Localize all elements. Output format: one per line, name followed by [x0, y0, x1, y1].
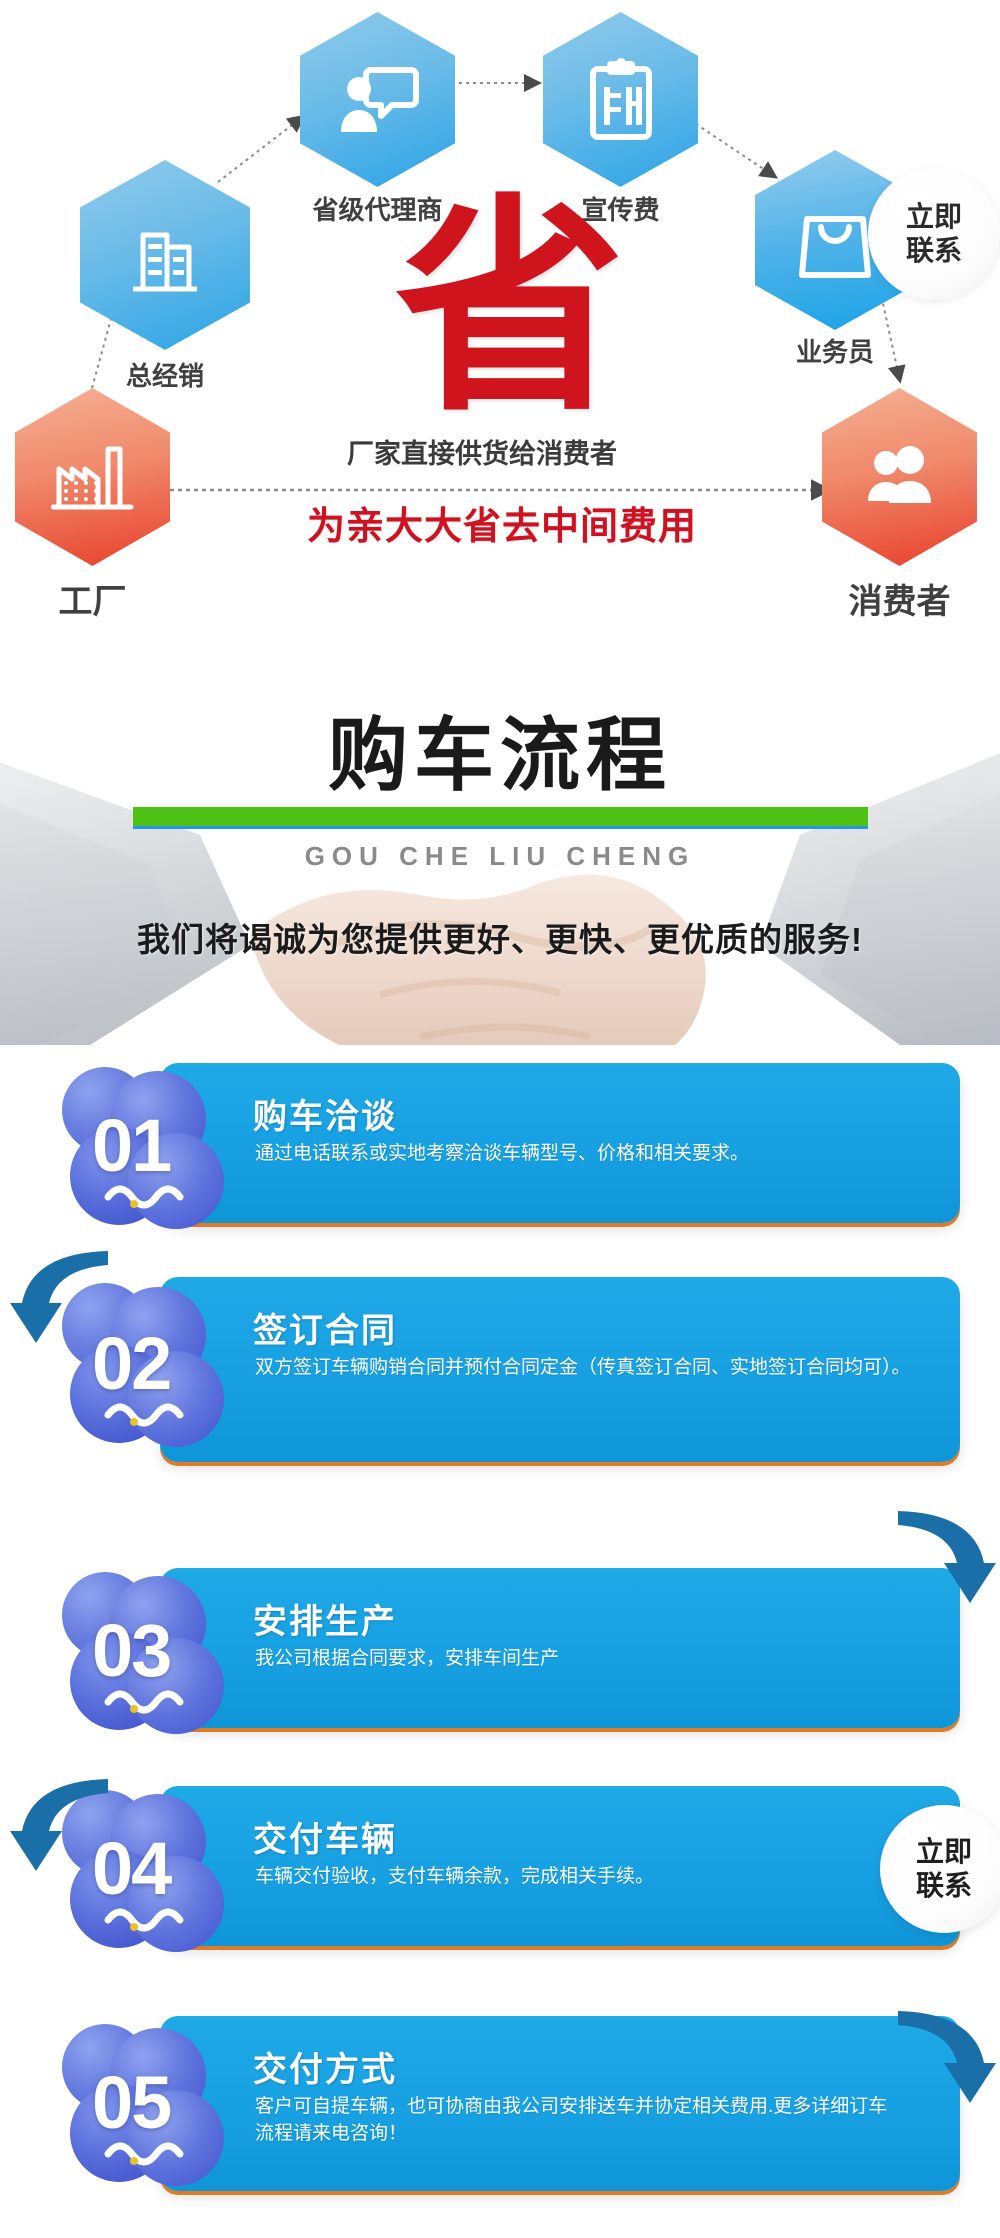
contact-now-badge-top[interactable]: 立即 联系: [868, 168, 1000, 300]
shopping-bag-icon: [797, 199, 873, 281]
node-promotion-fee[interactable]: [543, 12, 698, 187]
process-step-01[interactable]: 01 购车洽谈 通过电话联系或实地考察洽谈车辆型号、价格和相关要求。: [0, 1045, 1000, 1255]
process-step-05[interactable]: 05 交付方式 客户可自提车辆，也可协商由我公司安排送车并协定相关费用.更多详细…: [0, 1998, 1000, 2208]
node-consumer[interactable]: [822, 388, 977, 566]
red-slogan: 为亲大大省去中间费用: [307, 495, 697, 550]
process-step-02[interactable]: 02 签订合同 双方签订车辆购销合同并预付合同定金（传真签订合同、实地签订合同均…: [0, 1255, 1000, 1520]
process-step-03[interactable]: 03 安排生产 我公司根据合同要求，安排车间生产: [0, 1520, 1000, 1768]
squiggle-icon: [104, 2136, 200, 2166]
step-title: 安排生产: [253, 1594, 397, 1643]
step-number-badge: 03: [62, 1572, 252, 1732]
flow-arrow-left-2: [0, 1763, 120, 1913]
contact-now-badge-bottom[interactable]: 立即 联系: [880, 1805, 1000, 1933]
agent-chat-icon: [337, 62, 419, 138]
node-distributor[interactable]: [80, 160, 250, 350]
flow-arrow-left-1: [0, 1235, 120, 1385]
process-banner-slogan: 我们将谒诚为您提供更好、更快、更优质的服务!: [0, 913, 1000, 961]
channel-diagram-section: 总经销 省级代理商: [0, 0, 1000, 645]
node-salesman-label: 业务员: [745, 332, 925, 369]
hexagon-shape: [543, 12, 698, 187]
flow-arrow-right-2: [888, 1995, 1000, 2145]
factory-icon: [51, 441, 135, 513]
flow-arrow-right-1: [888, 1495, 1000, 1645]
clipboard-approval-icon: [585, 57, 657, 143]
big-save-character: 省: [395, 195, 625, 425]
step-number-badge: 01: [62, 1067, 252, 1227]
contact-badge-line1: 立即: [906, 200, 962, 234]
people-icon: [858, 441, 942, 513]
process-step-04[interactable]: 04 交付车辆 车辆交付验收，支付车辆余款，完成相关手续。: [0, 1768, 1000, 1998]
step-number-text: 01: [92, 1103, 170, 1188]
title-underline: [133, 807, 868, 829]
step-desc: 通过电话联系或实地考察洽谈车辆型号、价格和相关要求。: [255, 1141, 935, 1168]
node-consumer-label: 消费者: [812, 574, 987, 623]
marketing-infographic-page: 总经销 省级代理商: [0, 0, 1000, 2238]
hexagon-shape: [300, 12, 455, 187]
hexagon-shape: [15, 388, 170, 566]
process-banner-title: 购车流程: [0, 691, 1000, 807]
hexagon-shape: [80, 160, 250, 350]
step-number-badge: 05: [62, 2024, 252, 2184]
step-desc: 我公司根据合同要求，安排车间生产: [255, 1646, 935, 1673]
contact-badge-line1: 立即: [916, 1835, 972, 1869]
step-desc: 客户可自提车辆，也可协商由我公司安排送车并协定相关费用.更多详细订车流程请来电咨…: [255, 2094, 895, 2148]
step-title: 交付车辆: [253, 1812, 397, 1861]
step-number-text: 03: [92, 1608, 170, 1693]
squiggle-icon: [104, 1179, 200, 1209]
step-desc: 双方签订车辆购销合同并预付合同定金（传真签订合同、实地签订合同均可）。: [255, 1355, 920, 1382]
step-title: 购车洽谈: [253, 1089, 397, 1138]
hexagon-shape: [822, 388, 977, 566]
node-factory-label: 工厂: [10, 574, 175, 623]
node-factory[interactable]: [15, 388, 170, 566]
step-desc: 车辆交付验收，支付车辆余款，完成相关手续。: [255, 1864, 935, 1891]
building-icon: [125, 213, 205, 297]
step-title: 签订合同: [253, 1303, 397, 1352]
contact-badge-line2: 联系: [916, 1869, 972, 1903]
node-province-agent[interactable]: [300, 12, 455, 187]
process-steps-list: 01 购车洽谈 通过电话联系或实地考察洽谈车辆型号、价格和相关要求。: [0, 1045, 1000, 2208]
squiggle-icon: [104, 1397, 200, 1427]
contact-badge-line2: 联系: [906, 234, 962, 268]
squiggle-icon: [104, 1684, 200, 1714]
direct-supply-text: 厂家直接供货给消费者: [347, 432, 617, 471]
purchase-process-section: 购车流程 GOU CHE LIU CHENG 我们将谒诚为您提供更好、更快、更优…: [0, 645, 1000, 2238]
process-banner-pinyin: GOU CHE LIU CHENG: [0, 841, 1000, 872]
step-number-text: 05: [92, 2060, 170, 2145]
step-title: 交付方式: [253, 2042, 397, 2091]
